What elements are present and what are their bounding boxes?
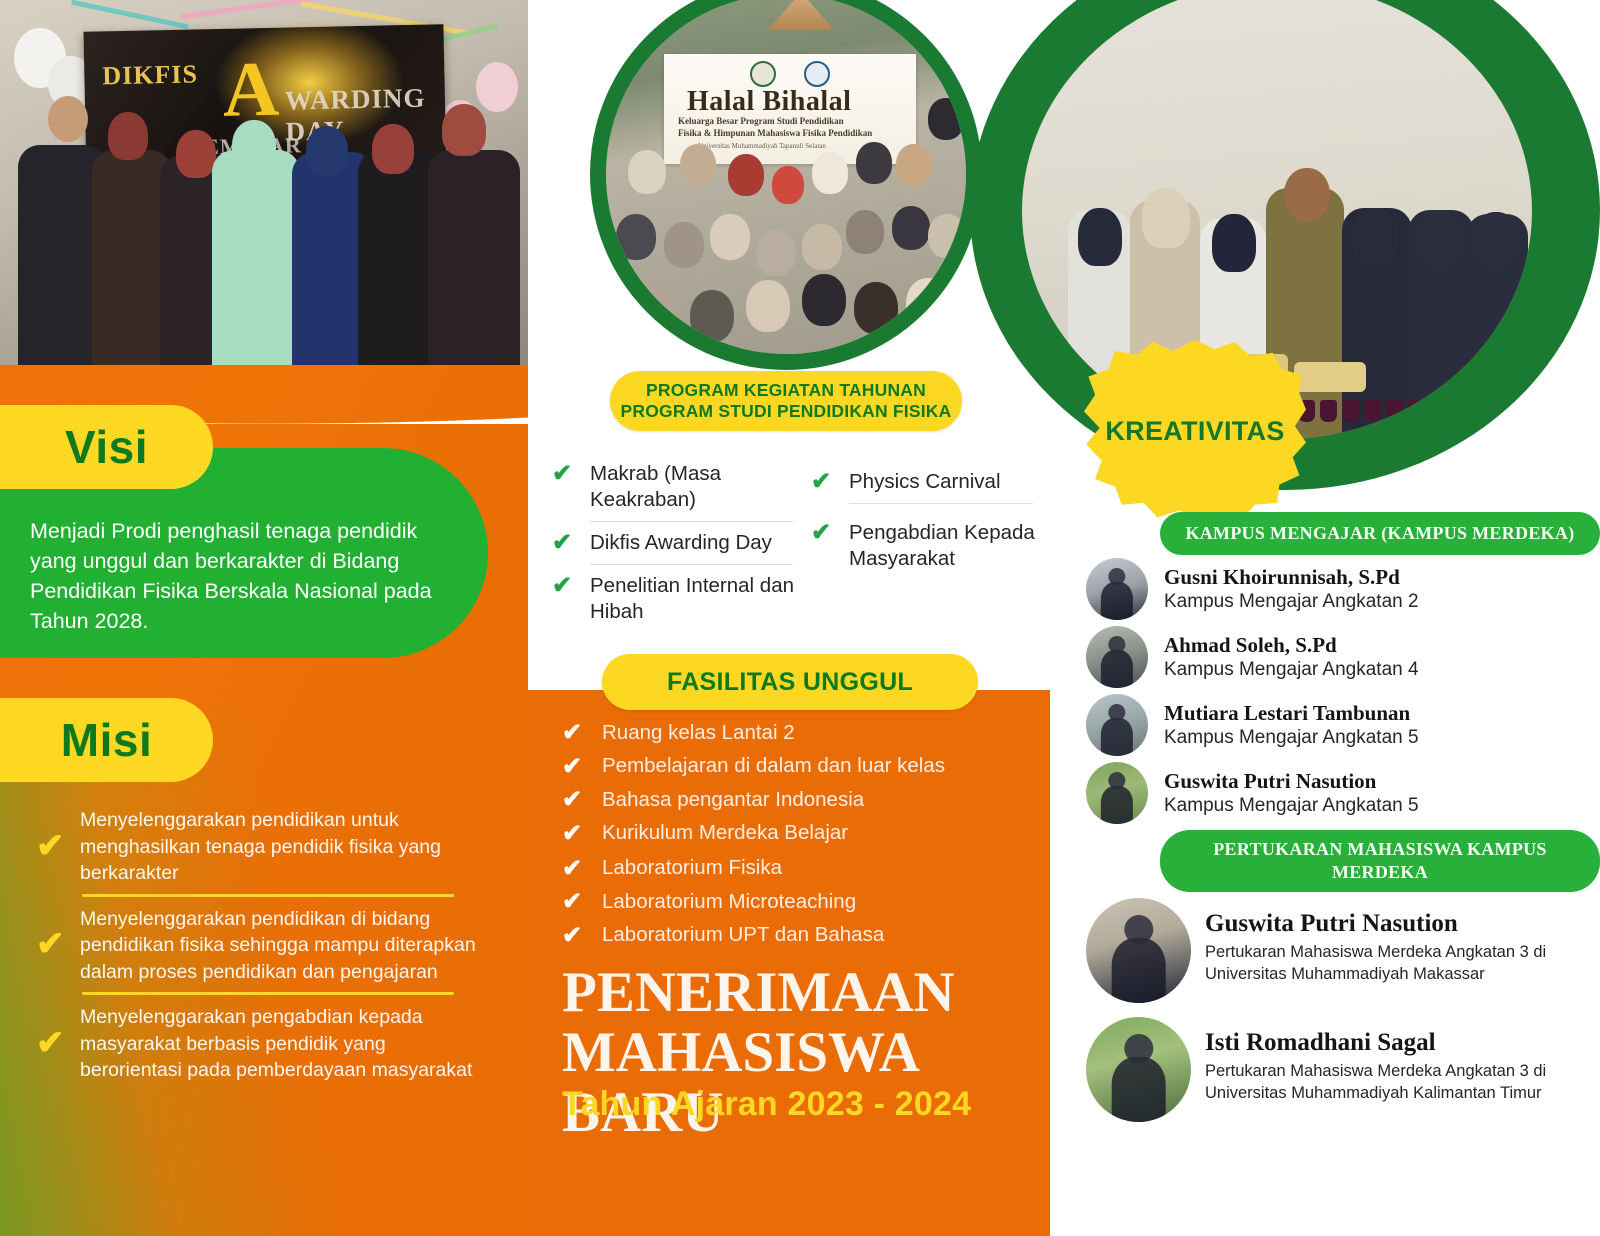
divider xyxy=(590,564,793,565)
kampus-mengajar-badge-label: KAMPUS MENGAJAR (KAMPUS MERDEKA) xyxy=(1185,523,1574,544)
program-item-text: Dikfis Awarding Day xyxy=(590,530,772,556)
check-icon: ✔ xyxy=(562,718,602,747)
fasilitas-item: ✔ Laboratorium UPT dan Bahasa xyxy=(562,921,1032,950)
person-name: Ahmad Soleh, S.Pd xyxy=(1164,633,1596,658)
kampus-mengajar-people-list: Gusni Khoirunnisah, S.Pd Kampus Mengajar… xyxy=(1086,556,1596,828)
person-info: Isti Romadhani Sagal Pertukaran Mahasisw… xyxy=(1205,1017,1596,1104)
avatar xyxy=(1086,558,1148,620)
divider xyxy=(590,521,793,522)
fasilitas-item-text: Pembelajaran di dalam dan luar kelas xyxy=(602,752,945,780)
program-kegiatan-badge: PROGRAM KEGIATAN TAHUNAN PROGRAM STUDI P… xyxy=(610,371,962,431)
check-icon: ✔ xyxy=(811,469,849,494)
program-list-right: ✔ Physics Carnival ✔ Pengabdian Kepada M… xyxy=(805,455,1043,631)
drink-cup xyxy=(1408,400,1425,422)
fasilitas-item-text: Ruang kelas Lantai 2 xyxy=(602,719,795,747)
list-item: Mutiara Lestari Tambunan Kampus Mengajar… xyxy=(1086,692,1596,758)
check-icon: ✔ xyxy=(562,819,602,848)
person-head xyxy=(1142,188,1190,248)
person-head xyxy=(1212,214,1256,272)
list-item: Ahmad Soleh, S.Pd Kampus Mengajar Angkat… xyxy=(1086,624,1596,690)
check-icon: ✔ xyxy=(36,927,80,961)
check-icon: ✔ xyxy=(36,1026,80,1060)
program-item-text: Physics Carnival xyxy=(849,469,1001,495)
brochure-page: DIKFIS A WARDING DAY SEMINAR PENDIDIKAN xyxy=(0,0,1600,1236)
program-item-text: Pengabdian Kepada Masyarakat xyxy=(849,520,1037,572)
fasilitas-item: ✔ Laboratorium Fisika xyxy=(562,854,1032,883)
drink-cup xyxy=(1342,400,1359,422)
check-icon: ✔ xyxy=(552,573,590,598)
program-item: ✔ Penelitian Internal dan Hibah xyxy=(552,567,797,631)
program-list-grid: ✔ Makrab (Masa Keakraban) ✔ Dikfis Award… xyxy=(546,455,1041,631)
misi-item-text: Menyelenggarakan pendidikan di bidang pe… xyxy=(80,904,490,986)
fasilitas-item-text: Laboratorium Fisika xyxy=(602,854,782,882)
misi-item-text: Menyelenggarakan pengabdian kepada masya… xyxy=(80,1002,490,1084)
fasilitas-item: ✔ Bahasa pengantar Indonesia xyxy=(562,785,1032,814)
check-icon: ✔ xyxy=(562,785,602,814)
avatar-silhouette xyxy=(1111,938,1166,1003)
person-head xyxy=(1418,212,1462,268)
person-name: Mutiara Lestari Tambunan xyxy=(1164,701,1596,726)
banner-letter-a: A xyxy=(222,56,280,123)
person-head xyxy=(442,104,486,156)
drink-cup xyxy=(1320,400,1337,422)
check-icon: ✔ xyxy=(552,530,590,555)
person-name: Guswita Putri Nasution xyxy=(1164,769,1596,794)
fasilitas-list: ✔ Ruang kelas Lantai 2 ✔ Pembelajaran di… xyxy=(562,718,1032,954)
person-name: Isti Romadhani Sagal xyxy=(1205,1027,1596,1059)
misi-heading: Misi xyxy=(21,713,152,767)
fasilitas-item: ✔ Ruang kelas Lantai 2 xyxy=(562,718,1032,747)
program-item: ✔ Physics Carnival xyxy=(811,455,1037,501)
avatar xyxy=(1086,898,1191,1003)
fasilitas-item-text: Laboratorium Microteaching xyxy=(602,888,856,916)
person-head xyxy=(1284,168,1330,222)
person-head xyxy=(176,130,216,178)
program-item-text: Makrab (Masa Keakraban) xyxy=(590,461,797,513)
fasilitas-unggul-badge: FASILITAS UNGGUL xyxy=(602,654,978,710)
divider xyxy=(82,992,454,995)
avatar xyxy=(1086,626,1148,688)
divider xyxy=(849,503,1033,504)
fasilitas-item: ✔ Kurikulum Merdeka Belajar xyxy=(562,819,1032,848)
check-icon: ✔ xyxy=(811,520,849,545)
fasilitas-item-text: Kurikulum Merdeka Belajar xyxy=(602,819,848,847)
kampus-mengajar-badge: KAMPUS MENGAJAR (KAMPUS MERDEKA) xyxy=(1160,512,1600,555)
photo-awarding-day: DIKFIS A WARDING DAY SEMINAR PENDIDIKAN xyxy=(0,0,528,400)
person-description: Kampus Mengajar Angkatan 2 xyxy=(1164,590,1596,614)
program-list-left: ✔ Makrab (Masa Keakraban) ✔ Dikfis Award… xyxy=(546,455,803,631)
person-info: Guswita Putri Nasution Kampus Mengajar A… xyxy=(1164,769,1596,818)
misi-item: ✔ Menyelenggarakan pengabdian kepada mas… xyxy=(36,1002,496,1084)
person-head xyxy=(1078,208,1122,266)
pmb-subtitle: Tahun Ajaran 2023 - 2024 xyxy=(562,1085,971,1124)
kreativitas-badge-label: KREATIVITAS xyxy=(1105,416,1284,447)
person-figure xyxy=(212,150,300,400)
fasilitas-badge-label: FASILITAS UNGGUL xyxy=(667,668,913,697)
avatar-silhouette xyxy=(1111,1057,1166,1122)
program-item: ✔ Makrab (Masa Keakraban) xyxy=(552,455,797,519)
list-item: Gusni Khoirunnisah, S.Pd Kampus Mengajar… xyxy=(1086,556,1596,622)
fasilitas-item-text: Bahasa pengantar Indonesia xyxy=(602,786,864,814)
pertukaran-badge-line1: PERTUKARAN MAHASISWA KAMPUS xyxy=(1213,838,1547,861)
avatar xyxy=(1086,762,1148,824)
program-item: ✔ Pengabdian Kepada Masyarakat xyxy=(811,506,1037,578)
check-icon: ✔ xyxy=(552,461,590,486)
check-icon: ✔ xyxy=(36,829,80,863)
person-info: Guswita Putri Nasution Pertukaran Mahasi… xyxy=(1205,898,1596,985)
misi-item: ✔ Menyelenggarakan pendidikan untuk meng… xyxy=(36,805,496,887)
avatar-silhouette xyxy=(1101,582,1133,620)
visi-heading: Visi xyxy=(25,420,148,474)
drink-cup xyxy=(1386,400,1403,422)
person-info: Ahmad Soleh, S.Pd Kampus Mengajar Angkat… xyxy=(1164,633,1596,682)
avatar-silhouette xyxy=(1101,718,1133,756)
program-item-text: Penelitian Internal dan Hibah xyxy=(590,573,797,625)
person-head xyxy=(1474,212,1518,268)
person-head xyxy=(232,120,276,172)
pertukaran-mahasiswa-badge: PERTUKARAN MAHASISWA KAMPUS MERDEKA xyxy=(1160,830,1600,892)
avatar xyxy=(1086,694,1148,756)
program-badge-line2: PROGRAM STUDI PENDIDIKAN FISIKA xyxy=(621,401,952,422)
list-item: Guswita Putri Nasution Pertukaran Mahasi… xyxy=(1086,898,1596,1003)
person-description: Kampus Mengajar Angkatan 4 xyxy=(1164,658,1596,682)
misi-heading-pill: Misi xyxy=(0,698,213,782)
balloon-decoration xyxy=(476,62,518,112)
list-item: Isti Romadhani Sagal Pertukaran Mahasisw… xyxy=(1086,1017,1596,1122)
person-description: Kampus Mengajar Angkatan 5 xyxy=(1164,726,1596,750)
avatar-silhouette xyxy=(1101,786,1133,824)
check-icon: ✔ xyxy=(562,854,602,883)
person-description: Pertukaran Mahasiswa Merdeka Angkatan 3 … xyxy=(1205,1061,1596,1104)
person-name: Gusni Khoirunnisah, S.Pd xyxy=(1164,565,1596,590)
person-name: Guswita Putri Nasution xyxy=(1205,908,1596,940)
left-column: DIKFIS A WARDING DAY SEMINAR PENDIDIKAN xyxy=(0,0,528,1236)
misi-list: ✔ Menyelenggarakan pendidikan untuk meng… xyxy=(36,805,496,1084)
fasilitas-item: ✔ Laboratorium Microteaching xyxy=(562,887,1032,916)
program-badge-line1: PROGRAM KEGIATAN TAHUNAN xyxy=(646,380,926,401)
person-head xyxy=(372,124,414,174)
person-description: Pertukaran Mahasiswa Merdeka Angkatan 3 … xyxy=(1205,942,1596,985)
person-head xyxy=(306,126,348,176)
program-item: ✔ Dikfis Awarding Day xyxy=(552,524,797,562)
person-description: Kampus Mengajar Angkatan 5 xyxy=(1164,794,1596,818)
pertukaran-badge-line2: MERDEKA xyxy=(1332,861,1428,884)
person-head xyxy=(48,96,88,142)
check-icon: ✔ xyxy=(562,921,602,950)
list-item: Guswita Putri Nasution Kampus Mengajar A… xyxy=(1086,760,1596,826)
right-column: KREATIVITAS KAMPUS MENGAJAR (KAMPUS MERD… xyxy=(1050,0,1600,1236)
pmb-title-line1: PENERIMAAN xyxy=(562,963,1082,1023)
person-figure xyxy=(428,150,520,400)
misi-item: ✔ Menyelenggarakan pendidikan di bidang … xyxy=(36,904,496,986)
streamer-decoration xyxy=(71,0,189,29)
kreativitas-badge: KREATIVITAS xyxy=(1084,340,1306,523)
check-icon: ✔ xyxy=(562,887,602,916)
drink-cup xyxy=(1364,400,1381,422)
avatar xyxy=(1086,1017,1191,1122)
fasilitas-item-text: Laboratorium UPT dan Bahasa xyxy=(602,921,884,949)
drink-cup xyxy=(1430,400,1447,422)
check-icon: ✔ xyxy=(562,752,602,781)
photo-halal-bihalal: Halal Bihalal Keluarga Besar Program Stu… xyxy=(590,0,982,370)
misi-item-text: Menyelenggarakan pendidikan untuk mengha… xyxy=(80,805,490,887)
pmb-title-line2: MAHASISWA BARU xyxy=(562,1023,1082,1143)
visi-heading-pill: Visi xyxy=(0,405,213,489)
banner-text-dikfis: DIKFIS xyxy=(102,59,198,91)
person-info: Mutiara Lestari Tambunan Kampus Mengajar… xyxy=(1164,701,1596,750)
fasilitas-item: ✔ Pembelajaran di dalam dan luar kelas xyxy=(562,752,1032,781)
person-head xyxy=(108,112,148,160)
person-head xyxy=(1352,208,1398,266)
pertukaran-people-list: Guswita Putri Nasution Pertukaran Mahasi… xyxy=(1086,898,1596,1136)
visi-text: Menjadi Prodi penghasil tenaga pendidik … xyxy=(30,516,460,636)
food-platter xyxy=(1294,362,1366,392)
person-info: Gusni Khoirunnisah, S.Pd Kampus Mengajar… xyxy=(1164,565,1596,614)
avatar-silhouette xyxy=(1101,650,1133,688)
divider xyxy=(82,894,454,897)
